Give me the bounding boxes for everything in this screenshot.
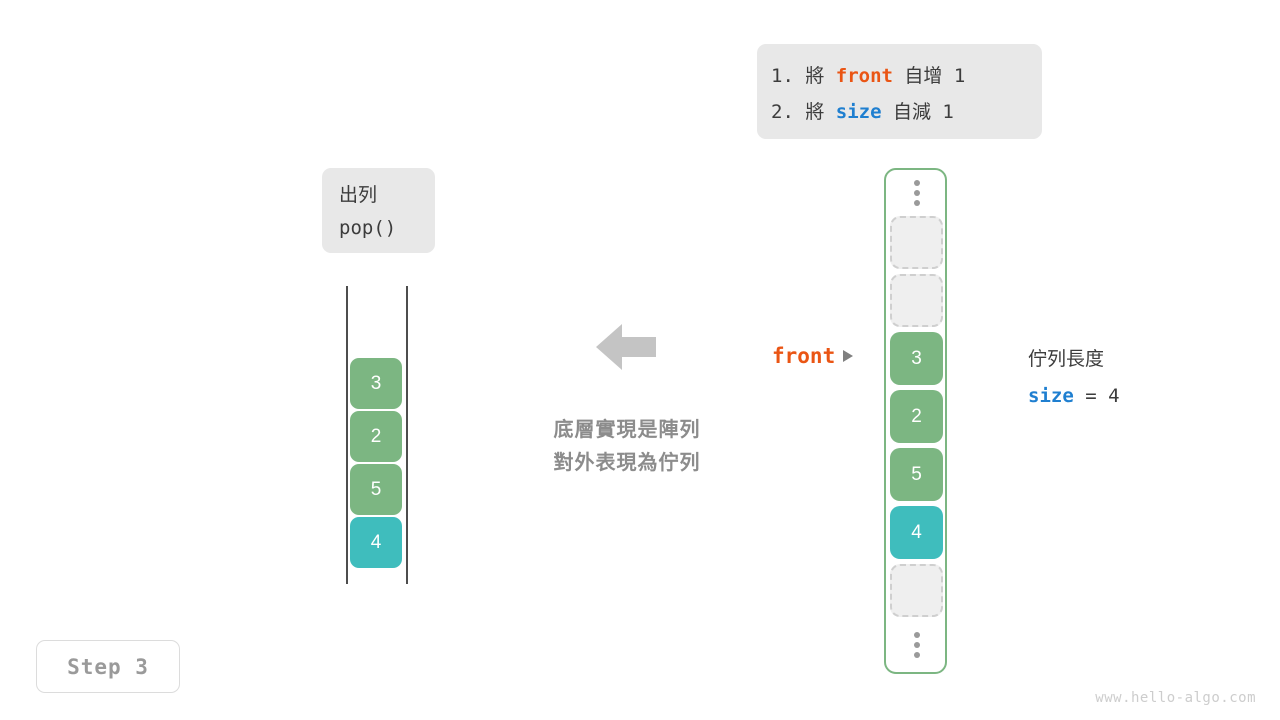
- size-value: 4: [1108, 385, 1119, 407]
- queue-cell-value: 2: [371, 426, 382, 448]
- instruction-line-2-prefix: 2. 將: [771, 101, 836, 123]
- array-cell: 5: [890, 448, 943, 501]
- instruction-line-2: 2. 將 size 自減 1: [771, 94, 1042, 130]
- size-annotation-label: 佇列長度: [1028, 342, 1120, 378]
- queue-cell-list: 3 2 5 4: [350, 358, 402, 570]
- array-cell-value: 2: [911, 406, 922, 428]
- queue-cell: 5: [350, 464, 402, 515]
- instruction-line-1-token: front: [836, 65, 893, 87]
- dot: [914, 180, 920, 186]
- queue-cell-value: 3: [371, 373, 382, 395]
- array-cell: 2: [890, 390, 943, 443]
- dot: [914, 642, 920, 648]
- instruction-line-1-suffix: 自增 1: [893, 65, 965, 87]
- array-cell-value: 5: [911, 464, 922, 486]
- queue-abstract-view: 3 2 5 4: [340, 286, 412, 584]
- array-cell: 4: [890, 506, 943, 559]
- array-cell-list: 3 2 5 4: [890, 170, 943, 668]
- thick-left-arrow-icon: [596, 322, 656, 372]
- implementation-note-line-1: 底層實現是陣列: [527, 414, 727, 447]
- queue-cell-value: 4: [371, 532, 382, 554]
- instruction-line-1-prefix: 1. 將: [771, 65, 836, 87]
- queue-cell: 4: [350, 517, 402, 568]
- size-var-name: size: [1028, 385, 1074, 407]
- array-cell-empty: [890, 564, 943, 617]
- size-annotation-value: size = 4: [1028, 378, 1120, 414]
- operation-title: 出列: [339, 180, 435, 212]
- step-badge: Step 3: [36, 640, 180, 693]
- queue-cell: 3: [350, 358, 402, 409]
- instruction-line-2-token: size: [836, 101, 882, 123]
- arrow-right-icon: [843, 350, 853, 362]
- queue-rail-right: [406, 286, 408, 584]
- array-cell-value: 3: [911, 348, 922, 370]
- implementation-note: 底層實現是陣列 對外表現為佇列: [527, 414, 727, 480]
- instruction-line-1: 1. 將 front 自增 1: [771, 58, 1042, 94]
- size-annotation: 佇列長度 size = 4: [1028, 342, 1120, 414]
- size-equals: =: [1074, 385, 1108, 407]
- implementation-note-line-2: 對外表現為佇列: [527, 447, 727, 480]
- front-pointer: front: [772, 341, 853, 371]
- dot: [914, 200, 920, 206]
- dot: [914, 652, 920, 658]
- array-cell-value: 4: [911, 522, 922, 544]
- front-pointer-label: front: [772, 344, 835, 368]
- step-badge-label: Step 3: [67, 655, 149, 679]
- dot: [914, 190, 920, 196]
- array-underlying-view: 3 2 5 4: [884, 168, 947, 674]
- watermark: www.hello-algo.com: [1095, 690, 1256, 706]
- queue-cell-value: 5: [371, 479, 382, 501]
- vertical-ellipsis-icon-bottom: [890, 622, 943, 668]
- instruction-box: 1. 將 front 自增 1 2. 將 size 自減 1: [757, 44, 1042, 139]
- dot: [914, 632, 920, 638]
- queue-cell: 2: [350, 411, 402, 462]
- array-cell: 3: [890, 332, 943, 385]
- array-cell-empty: [890, 216, 943, 269]
- array-cell-empty: [890, 274, 943, 327]
- instruction-line-2-suffix: 自減 1: [882, 101, 954, 123]
- operation-method: pop(): [339, 212, 435, 244]
- vertical-ellipsis-icon-top: [890, 170, 943, 216]
- operation-label-box: 出列 pop(): [322, 168, 435, 253]
- queue-rail-left: [346, 286, 348, 584]
